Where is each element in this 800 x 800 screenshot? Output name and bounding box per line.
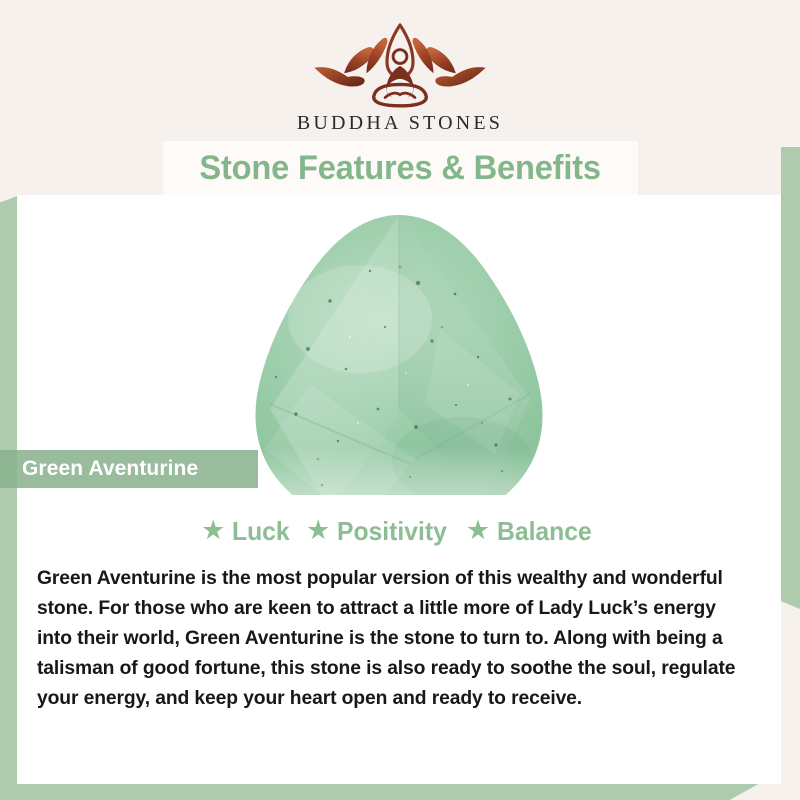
- frame-accent-right-foot: [781, 595, 800, 609]
- frame-accent-bottom: [0, 783, 760, 800]
- star-icon: ★: [201, 517, 225, 544]
- brand-name: BUDDHA STONES: [297, 112, 503, 135]
- stone-name-label: Green Aventurine: [22, 457, 198, 481]
- description-text: Green Aventurine is the most popular ver…: [37, 563, 754, 713]
- benefit-item-positivity: ★ Positivity: [306, 517, 453, 544]
- green-aventurine-stone-image: [210, 209, 588, 495]
- benefit-item-balance: ★ Balance: [466, 517, 597, 544]
- star-icon: ★: [306, 517, 330, 544]
- benefits-list: ★ Luck ★ Positivity ★ Balance: [17, 517, 781, 544]
- benefit-label: Positivity: [337, 518, 447, 544]
- description-card: ★ Luck ★ Positivity ★ Balance Green Aven…: [17, 495, 781, 784]
- section-title-banner: Stone Features & Benefits: [163, 141, 638, 195]
- lotus-meditation-figure-icon: [300, 18, 500, 110]
- brand-header: BUDDHA STONES: [0, 0, 800, 147]
- poster-canvas: Green Aventurine ★ Luck ★ Positivity ★ B…: [0, 0, 800, 800]
- frame-accent-left: [0, 202, 17, 800]
- benefit-item-luck: ★ Luck: [201, 517, 293, 544]
- benefit-label: Balance: [497, 518, 592, 544]
- page-title: Stone Features & Benefits: [200, 151, 601, 185]
- benefit-label: Luck: [232, 518, 290, 544]
- stone-name-ribbon: Green Aventurine: [0, 450, 258, 488]
- star-icon: ★: [466, 517, 490, 544]
